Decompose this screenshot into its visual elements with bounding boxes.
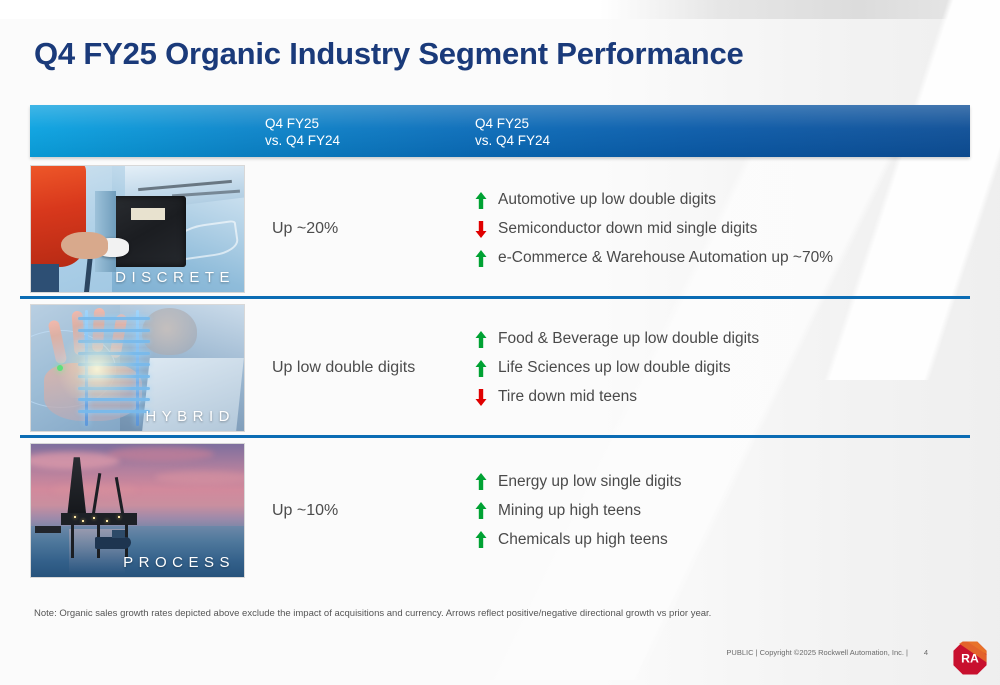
bullet-text: Automotive up low double digits xyxy=(498,191,716,209)
bullet-item: Energy up low single digits xyxy=(475,473,682,491)
header-column-2-line1: Q4 FY25 xyxy=(475,115,550,132)
segment-image-process: PROCESS xyxy=(30,443,245,578)
table-header-bar: Q4 FY25 vs. Q4 FY24 Q4 FY25 vs. Q4 FY24 xyxy=(30,105,970,157)
footer-copyright: PUBLIC | Copyright ©2025 Rockwell Automa… xyxy=(726,648,908,657)
bullet-item: Chemicals up high teens xyxy=(475,531,682,549)
slide-canvas: Q4 FY25 Organic Industry Segment Perform… xyxy=(0,0,1000,685)
arrow-up-icon xyxy=(475,250,487,267)
arrow-up-icon xyxy=(475,192,487,209)
segment-bullets-hybrid: Food & Beverage up low double digits Lif… xyxy=(475,304,759,432)
bullet-text: Mining up high teens xyxy=(498,502,641,520)
segment-bullets-discrete: Automotive up low double digits Semicond… xyxy=(475,165,833,293)
logo-text: RA xyxy=(961,652,979,666)
header-column-1-line2: vs. Q4 FY24 xyxy=(265,132,340,149)
bullet-item: Life Sciences up low double digits xyxy=(475,359,759,377)
bullet-text: e-Commerce & Warehouse Automation up ~70… xyxy=(498,249,833,267)
footnote: Note: Organic sales growth rates depicte… xyxy=(34,608,711,619)
segment-bullets-process: Energy up low single digits Mining up hi… xyxy=(475,443,682,578)
row-divider-2 xyxy=(20,435,970,438)
arrow-up-icon xyxy=(475,331,487,348)
bullet-item: Semiconductor down mid single digits xyxy=(475,220,833,238)
arrow-up-icon xyxy=(475,531,487,548)
segment-label-hybrid: HYBRID xyxy=(145,408,235,425)
segment-value-process: Up ~10% xyxy=(272,443,338,578)
bullet-text: Life Sciences up low double digits xyxy=(498,359,731,377)
bullet-text: Semiconductor down mid single digits xyxy=(498,220,757,238)
arrow-down-icon xyxy=(475,221,487,238)
arrow-up-icon xyxy=(475,502,487,519)
header-column-2: Q4 FY25 vs. Q4 FY24 xyxy=(475,115,550,149)
bullet-text: Chemicals up high teens xyxy=(498,531,668,549)
segment-label-process: PROCESS xyxy=(123,554,235,571)
arrow-up-icon xyxy=(475,473,487,490)
segment-image-discrete: DISCRETE xyxy=(30,165,245,293)
bullet-text: Energy up low single digits xyxy=(498,473,682,491)
bullet-item: e-Commerce & Warehouse Automation up ~70… xyxy=(475,249,833,267)
segment-label-discrete: DISCRETE xyxy=(115,269,235,286)
bullet-text: Tire down mid teens xyxy=(498,388,637,406)
page-number: 4 xyxy=(924,648,928,657)
header-column-1: Q4 FY25 vs. Q4 FY24 xyxy=(265,115,340,149)
segment-row-process: PROCESS Up ~10% Energy up low single dig… xyxy=(30,443,970,578)
rockwell-automation-logo: RA xyxy=(952,640,988,676)
segment-value-hybrid: Up low double digits xyxy=(272,304,415,432)
bullet-item: Automotive up low double digits xyxy=(475,191,833,209)
arrow-up-icon xyxy=(475,360,487,377)
page-title: Q4 FY25 Organic Industry Segment Perform… xyxy=(34,36,744,72)
bullet-item: Food & Beverage up low double digits xyxy=(475,330,759,348)
bullet-item: Tire down mid teens xyxy=(475,388,759,406)
row-divider-1 xyxy=(20,296,970,299)
segment-image-hybrid: HYBRID xyxy=(30,304,245,432)
header-column-2-line2: vs. Q4 FY24 xyxy=(475,132,550,149)
header-column-1-line1: Q4 FY25 xyxy=(265,115,340,132)
arrow-down-icon xyxy=(475,389,487,406)
bullet-text: Food & Beverage up low double digits xyxy=(498,330,759,348)
segment-row-hybrid: HYBRID Up low double digits Food & Bever… xyxy=(30,304,970,432)
segment-row-discrete: DISCRETE Up ~20% Automotive up low doubl… xyxy=(30,165,970,293)
segment-value-discrete: Up ~20% xyxy=(272,165,338,293)
bullet-item: Mining up high teens xyxy=(475,502,682,520)
